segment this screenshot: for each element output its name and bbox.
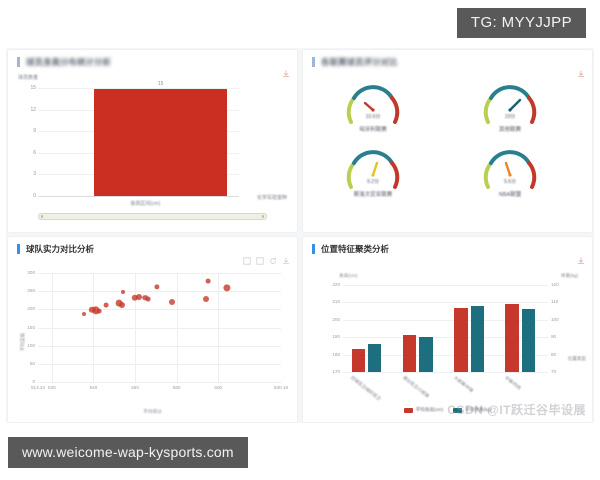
gauge-dial-icon — [480, 147, 540, 195]
grouped-ytick-left: 180 — [332, 352, 340, 357]
grouped-ytick-left: 190 — [332, 334, 340, 339]
scatter-grid[interactable]: 050100150200250300513.345205405605806006… — [38, 273, 281, 382]
grouped-ytick-right: 120 — [551, 282, 559, 287]
grouped-category-label: 大前锋/中锋 — [452, 375, 474, 394]
bar-big-gridlines: 0 3 6 9 12 15 15 — [38, 88, 239, 196]
grouped-ytick-left: 220 — [332, 282, 340, 287]
scatter-xtick: 600 — [214, 385, 222, 390]
bar-big-x-axis-line — [38, 196, 239, 197]
grouped-ytick-left: 200 — [332, 317, 340, 322]
bar-big-ytick: 12 — [18, 107, 36, 113]
scatter-xtick: 520 — [48, 385, 56, 390]
gauge-value-other-league: 19分 — [478, 113, 542, 120]
scatter-ytick: 200 — [27, 306, 35, 311]
gauge-label-slovenia: 斯洛文尼亚联赛 — [341, 190, 405, 198]
scatter-point[interactable] — [205, 279, 210, 284]
gauge-dial-icon — [343, 147, 403, 195]
scatter-point[interactable] — [223, 284, 230, 291]
gauge-label-nba: NBA联盟 — [478, 190, 542, 198]
grouped-ytick-right: 80 — [551, 352, 556, 357]
grouped-x-title: 位置类型 — [568, 356, 586, 362]
scatter-xtick: 560 — [131, 385, 139, 390]
gauge-label-hungary: 匈牙利联赛 — [341, 125, 405, 133]
gauge-slovenia[interactable]: 9.2分 斯洛文尼亚联赛 — [341, 147, 405, 198]
bar-segment[interactable] — [94, 89, 227, 196]
bar-big-ytick: 0 — [18, 193, 36, 199]
scatter-gridline — [38, 273, 281, 274]
bar-big-ytick: 9 — [18, 128, 36, 134]
scatter-point[interactable] — [146, 296, 151, 301]
dashboard-grid: 球员身高分布统计分析 球员数量 — [6, 48, 594, 423]
grouped-bar[interactable] — [471, 306, 484, 372]
scatter-point[interactable] — [96, 308, 101, 313]
grouped-bar-plot: 身高(cm) 体重(kg) 位置类型 170701808019090200100… — [303, 263, 592, 418]
dashboard-row-top: 球员身高分布统计分析 球员数量 — [8, 50, 592, 232]
grouped-ytick-right: 110 — [551, 299, 558, 304]
grouped-bar[interactable] — [505, 304, 518, 372]
grouped-ytick-right: 70 — [551, 369, 556, 374]
gauge-value-hungary: 10.6分 — [341, 113, 405, 120]
grouped-bar[interactable] — [403, 335, 416, 372]
grouped-ytick-left: 170 — [332, 369, 340, 374]
scatter-xtick: 540 — [90, 385, 98, 390]
card-title-league-rating: 各联赛球员评分对比 — [312, 57, 398, 67]
bar-big-ytick: 6 — [18, 150, 36, 156]
scatter-ytick: 150 — [27, 325, 35, 330]
gauge-other-league[interactable]: 19分 其他联赛 — [478, 82, 542, 133]
scatter-xtick: 630.16 — [274, 385, 288, 390]
scatter-x-axis-title: 平均得分 — [143, 409, 161, 415]
data-view-icon[interactable] — [243, 257, 251, 265]
restore-icon[interactable] — [256, 257, 264, 265]
gauge-value-nba: 5.6分 — [478, 178, 542, 185]
legend-swatch-weight — [453, 408, 462, 413]
url-watermark-badge: www.weicome-wap-kysports.com — [8, 437, 248, 468]
refresh-icon[interactable] — [269, 257, 277, 265]
scatter-point[interactable] — [104, 303, 109, 308]
bar-big-axis-area: 0 3 6 9 12 15 15 身高区间(cm) 化学实验室种 — [16, 88, 291, 196]
scatter-gridline — [38, 364, 281, 365]
legend-item-weight[interactable]: 平均体重(kg) — [453, 407, 491, 413]
legend-item-height[interactable]: 平均身高(cm) — [404, 407, 444, 413]
grouped-bar[interactable] — [419, 337, 432, 372]
gauge-hungary[interactable]: 10.6分 匈牙利联赛 — [341, 82, 405, 133]
scatter-gridline — [38, 328, 281, 329]
grouped-grid[interactable]: 170701808019090200100210110220120控球后卫/组织… — [343, 285, 548, 372]
bar-big-y-axis-title: 球员数量 — [18, 74, 38, 81]
scatter-point[interactable] — [169, 299, 175, 305]
dashboard-row-bottom: 球队实力对比分析 平均篮板 — [8, 237, 592, 422]
tg-watermark-badge: TG: MYYJJPP — [457, 8, 586, 38]
scatter-ytick: 250 — [27, 288, 35, 293]
grouped-ytick-left: 210 — [332, 299, 340, 304]
scatter-point[interactable] — [154, 284, 159, 289]
scatter-gridline — [52, 273, 53, 382]
gauge-dial-icon — [480, 82, 540, 130]
grouped-ytick-right: 100 — [551, 317, 559, 322]
legend-swatch-height — [404, 408, 413, 413]
scatter-point[interactable] — [136, 294, 142, 300]
scatter-gridline — [135, 273, 136, 382]
grouped-bar[interactable] — [522, 309, 535, 372]
scatter-y-axis-title: 平均篮板 — [20, 332, 26, 350]
legend-label-height: 平均身高(cm) — [416, 407, 444, 413]
scatter-ytick: 50 — [30, 361, 35, 366]
scatter-ytick: 0 — [32, 379, 35, 384]
grouped-category-label: 控球后卫/组织后卫 — [350, 375, 382, 402]
bar-big-x-axis-title: 身高区间(cm) — [130, 200, 160, 207]
card-title-height-distribution: 球员身高分布统计分析 — [17, 57, 111, 67]
scatter-xtick: 513.34 — [31, 385, 45, 390]
scatter-point[interactable] — [121, 290, 125, 294]
dashboard-page: TG: MYYJJPP 球员身高分布统计分析 球员数量 — [0, 0, 600, 480]
datazoom-scrollbar[interactable] — [38, 213, 267, 220]
card-team-strength-scatter: 球队实力对比分析 平均篮板 — [8, 237, 297, 422]
card-position-cluster: 位置特征聚类分析 身高(cm) 体重(kg) 位置类型 170701808019… — [303, 237, 592, 422]
grouped-legend[interactable]: 平均身高(cm) 平均体重(kg) — [303, 407, 592, 413]
scatter-ytick: 300 — [27, 270, 35, 275]
scatter-gridline — [38, 291, 281, 292]
gauge-nba[interactable]: 5.6分 NBA联盟 — [478, 147, 542, 198]
chart-toolbar-scatter[interactable] — [243, 257, 290, 265]
grouped-y-right-title: 体重(kg) — [561, 273, 578, 279]
gauge-dial-icon — [343, 82, 403, 130]
grouped-ytick-right: 90 — [551, 334, 556, 339]
scatter-point[interactable] — [203, 296, 209, 302]
scatter-gridline — [218, 273, 219, 382]
scatter-point[interactable] — [119, 302, 125, 308]
grouped-bar[interactable] — [352, 349, 365, 372]
grouped-gridline — [343, 285, 548, 286]
card-league-rating-gauges: 各联赛球员评分对比 — [303, 50, 592, 232]
card-height-distribution: 球员身高分布统计分析 球员数量 — [8, 50, 297, 232]
gauge-value-slovenia: 9.2分 — [341, 178, 405, 185]
scatter-gridline — [38, 309, 281, 310]
scatter-gridline — [38, 382, 281, 383]
grouped-bar[interactable] — [368, 344, 381, 372]
bar-big-plot: 球员数量 0 3 6 9 12 — [16, 74, 291, 202]
scatter-ytick: 100 — [27, 343, 35, 348]
bar-big-ytick: 3 — [18, 171, 36, 177]
gauge-label-other-league: 其他联赛 — [478, 125, 542, 133]
legend-label-weight: 平均体重(kg) — [465, 407, 491, 413]
grouped-gridline — [343, 372, 548, 373]
grouped-category-label: 得分后卫/小前锋 — [401, 375, 430, 399]
bar-value-label: 15 — [158, 81, 164, 87]
scatter-gridline — [38, 346, 281, 347]
scatter-xtick: 580 — [173, 385, 181, 390]
grouped-bar[interactable] — [454, 308, 467, 372]
scatter-point[interactable] — [82, 312, 86, 316]
scatter-gridline — [177, 273, 178, 382]
bar-big-x-right-label: 化学实验室种 — [257, 194, 287, 201]
bar-big-ytick: 15 — [18, 85, 36, 91]
card-title-team-strength: 球队实力对比分析 — [17, 244, 94, 254]
card-title-position-cluster: 位置特征聚类分析 — [312, 244, 389, 254]
scatter-gridline — [93, 273, 94, 382]
scatter-plot: 平均篮板 平均得分 050100150200250300513.34520540… — [8, 267, 297, 416]
gauge-group: 10.6分 匈牙利联赛 19分 其他联赛 — [303, 70, 592, 228]
grouped-y-left-title: 身高(cm) — [339, 273, 357, 279]
grouped-category-label: 中锋/内线 — [503, 375, 522, 391]
download-icon[interactable] — [282, 257, 290, 265]
